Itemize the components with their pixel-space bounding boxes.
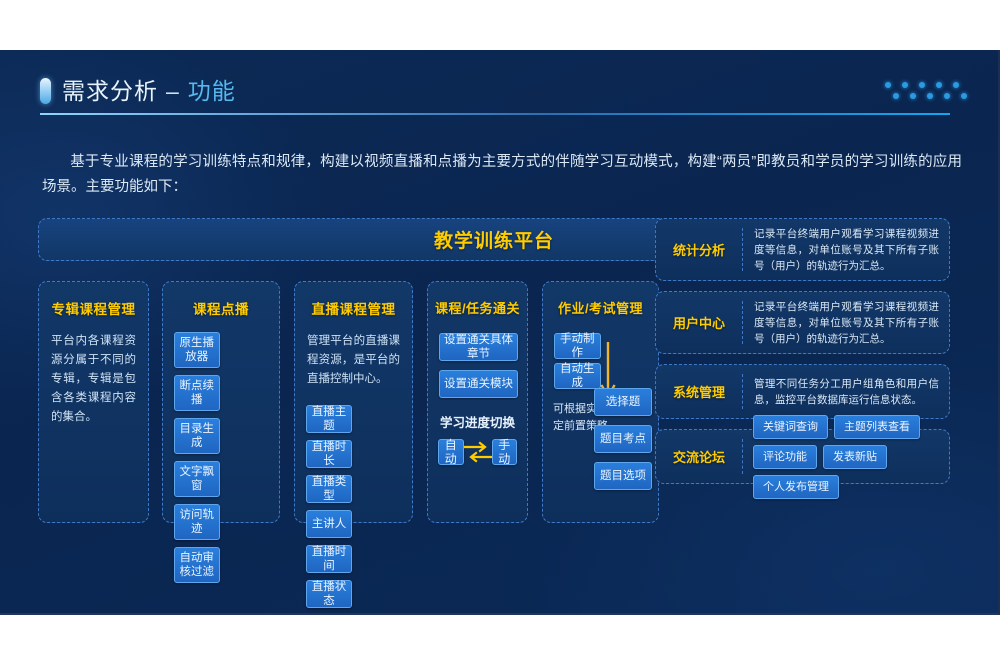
column-live-course-management[interactable]: 直播课程管理 管理平台的直播课程资源，是平台的直播控制中心。 直播主题 直播时长… [294,281,413,523]
column-title: 课程点播 [163,298,279,318]
progress-switch-label: 学习进度切换 [428,412,527,431]
column-album-course-management[interactable]: 专辑课程管理 平台内各课程资源分属于不同的专辑，专辑是包含各类课程内容的集合。 [38,281,149,523]
column-title: 直播课程管理 [295,298,412,318]
card-description: 记录平台终端用户观看学习课程视频进度等信息，对单位账号及其下所有子账号（用户）的… [743,299,949,347]
card-statistics-analysis[interactable]: 统计分析 记录平台终端用户观看学习课程视频进度等信息，对单位账号及其下所有子账号… [655,218,950,281]
switch-button-manual[interactable]: 手动 [492,439,518,465]
column-homework-exam-management[interactable]: 作业/考试管理 手动制作 自动生成 可根据实际需求制定前置策略 选择题 题目考点… [542,281,659,523]
card-title: 交流论坛 [656,447,742,466]
vod-button-auto-review-filter[interactable]: 自动审核过滤 [174,547,220,583]
slide-canvas: 需求分析–功能 基于专业课程的学习训练特点和规律，构建以视频直播和点播为主要方式… [0,50,1000,615]
exam-button-manual-create[interactable]: 手动制作 [554,333,601,359]
capsule-icon [40,78,51,104]
card-title: 系统管理 [656,382,742,401]
forum-button-group: 关键词查询 主题列表查看 评论功能 发表新贴 个人发布管理 [743,415,949,499]
title-dash: – [166,78,180,104]
forum-button-comment[interactable]: 评论功能 [753,445,817,469]
card-title: 用户中心 [656,313,742,332]
exam-right-buttons: 选择题 题目考点 题目选项 [594,388,652,490]
exam-button-multiple-choice[interactable]: 选择题 [594,388,652,416]
card-title: 统计分析 [656,240,742,259]
column-title: 课程/任务通关 [428,298,527,317]
vod-button-access-trace[interactable]: 访问轨迹 [174,504,220,540]
vod-button-grid: 原生播放器 断点续播 目录生成 文字飘窗 访问轨迹 自动审核过滤 [174,332,268,583]
card-system-management[interactable]: 系统管理 管理不同任务分工用户组角色和用户信息，监控平台数据库运行信息状态。 [655,364,950,419]
clearance-button-stack: 设置通关具体章节 设置通关模块 [439,333,516,398]
header-divider [40,113,950,115]
live-button-status[interactable]: 直播状态 [306,580,352,608]
card-description: 管理不同任务分工用户组角色和用户信息，监控平台数据库运行信息状态。 [743,376,949,408]
page-subtitle: 功能 [188,78,236,104]
page-title: 需求分析–功能 [62,72,236,106]
forum-button-personal-publish[interactable]: 个人发布管理 [753,475,839,499]
exam-button-question-option[interactable]: 题目选项 [594,462,652,490]
card-discussion-forum[interactable]: 交流论坛 关键词查询 主题列表查看 评论功能 发表新贴 个人发布管理 [655,429,950,484]
card-user-center[interactable]: 用户中心 记录平台终端用户观看学习课程视频进度等信息，对单位账号及其下所有子账号… [655,291,950,354]
vod-button-native-player[interactable]: 原生播放器 [174,332,220,368]
column-description: 平台内各课程资源分属于不同的专辑，专辑是包含各类课程内容的集合。 [51,332,136,427]
card-description: 记录平台终端用户观看学习课程视频进度等信息，对单位账号及其下所有子账号（用户）的… [743,226,949,274]
page-title-main: 需求分析 [62,78,158,104]
column-course-task-clearance[interactable]: 课程/任务通关 设置通关具体章节 设置通关模块 学习进度切换 自动 手动 [427,281,528,523]
intro-paragraph-text: 基于专业课程的学习训练特点和规律，构建以视频直播和点播为主要方式的伴随学习互动模… [42,154,962,195]
live-button-duration[interactable]: 直播时长 [306,440,352,468]
live-button-time[interactable]: 直播时间 [306,545,352,573]
vod-button-text-float-window[interactable]: 文字飘窗 [174,461,220,497]
progress-switch-row: 自动 手动 [438,439,517,465]
live-button-grid: 直播主题 直播时长 直播类型 主讲人 直播时间 直播状态 [306,405,401,608]
vod-button-catalog-generation[interactable]: 目录生成 [174,418,220,454]
intro-paragraph: 基于专业课程的学习训练特点和规律，构建以视频直播和点播为主要方式的伴随学习互动模… [42,150,962,200]
live-button-topic[interactable]: 直播主题 [306,405,352,433]
column-description: 管理平台的直播课程资源，是平台的直播控制中心。 [307,332,400,389]
switch-button-auto[interactable]: 自动 [438,439,464,465]
dots-decoration-icon [885,80,965,106]
exam-button-auto-generate[interactable]: 自动生成 [554,363,601,389]
exam-button-question-point[interactable]: 题目考点 [594,425,652,453]
clearance-button-set-chapter[interactable]: 设置通关具体章节 [439,333,518,361]
vod-button-resume-play[interactable]: 断点续播 [174,375,220,411]
column-title: 作业/考试管理 [543,298,658,317]
live-button-type[interactable]: 直播类型 [306,475,352,503]
forum-button-keyword-search[interactable]: 关键词查询 [753,415,828,439]
slide-header: 需求分析–功能 [40,66,950,124]
forum-button-topic-list[interactable]: 主题列表查看 [834,415,920,439]
clearance-button-set-module[interactable]: 设置通关模块 [439,370,518,398]
column-title: 专辑课程管理 [39,298,148,318]
forum-button-new-post[interactable]: 发表新贴 [823,445,887,469]
right-module-list: 统计分析 记录平台终端用户观看学习课程视频进度等信息，对单位账号及其下所有子账号… [655,218,950,523]
platform-title: 教学训练平台 [434,226,554,253]
column-course-vod[interactable]: 课程点播 原生播放器 断点续播 目录生成 文字飘窗 访问轨迹 自动审核过滤 [162,281,280,523]
exchange-arrows-icon [464,441,492,463]
live-button-speaker[interactable]: 主讲人 [306,510,352,538]
